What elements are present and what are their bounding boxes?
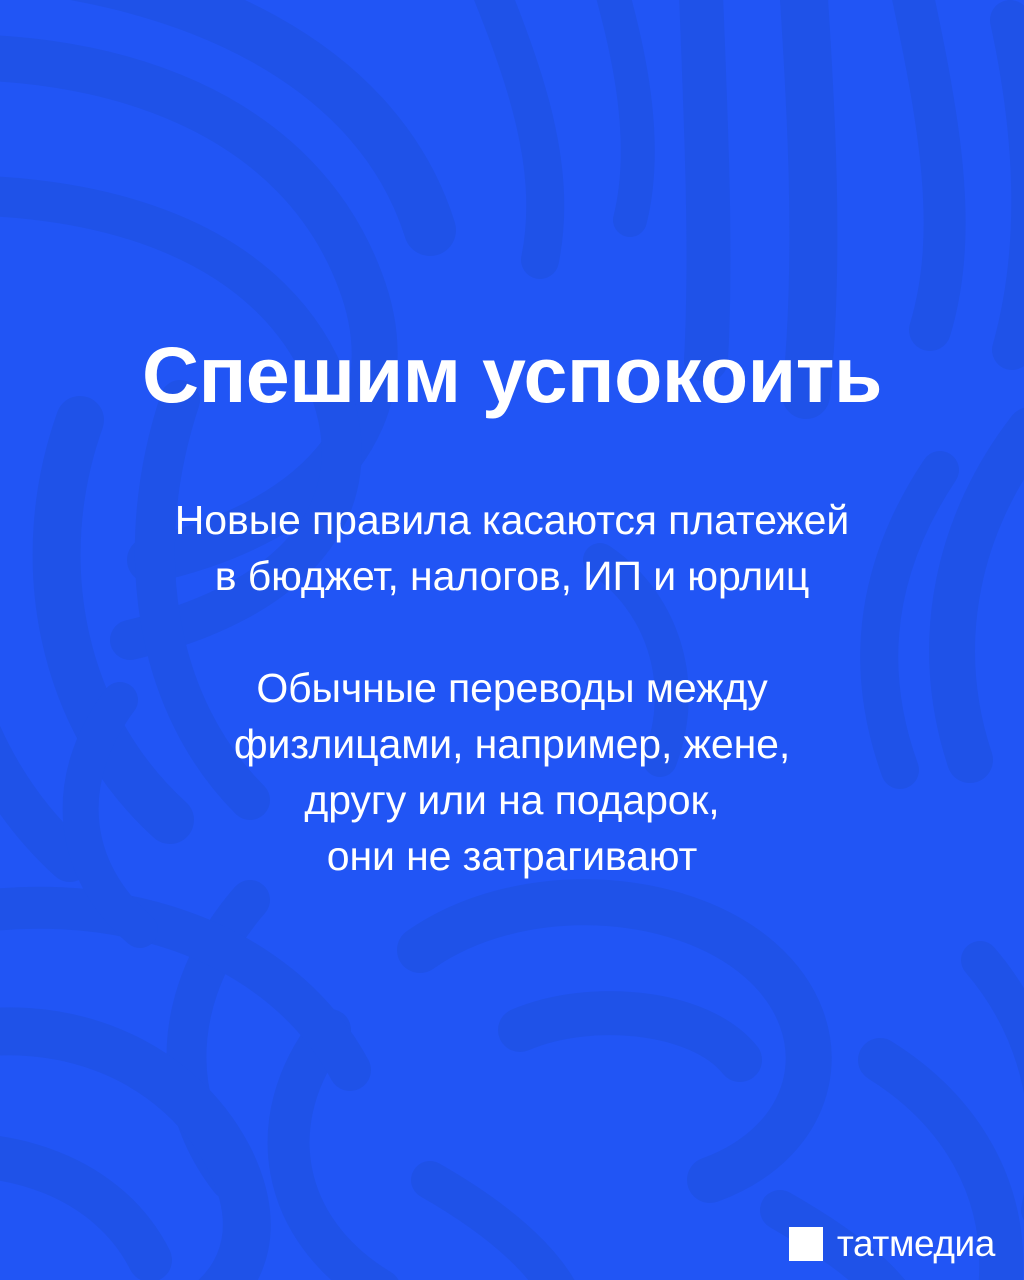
tatmedia-logo: татмедиа (789, 1225, 995, 1262)
card-content: Спешим успокоить Новые правила касаются … (0, 0, 1024, 1280)
paragraph-1: Новые правила касаются платежей в бюджет… (0, 492, 1024, 604)
paragraph-2-line-2: физлицами, например, жене, (0, 716, 1024, 772)
paragraph-1-line-1: Новые правила касаются платежей (0, 492, 1024, 548)
paragraph-2-line-4: они не затрагивают (0, 828, 1024, 884)
body-text-block: Новые правила касаются платежей в бюджет… (0, 492, 1024, 884)
white-square-mark-icon (789, 1227, 823, 1261)
paragraph-2: Обычные переводы между физлицами, наприм… (0, 660, 1024, 884)
tatmedia-wordmark: татмедиа (837, 1225, 995, 1262)
paragraph-2-line-3: другу или на подарок, (0, 772, 1024, 828)
social-card: Спешим успокоить Новые правила касаются … (0, 0, 1024, 1280)
paragraph-2-line-1: Обычные переводы между (0, 660, 1024, 716)
paragraph-1-line-2: в бюджет, налогов, ИП и юрлиц (0, 548, 1024, 604)
page-title: Спешим успокоить (0, 333, 1024, 417)
